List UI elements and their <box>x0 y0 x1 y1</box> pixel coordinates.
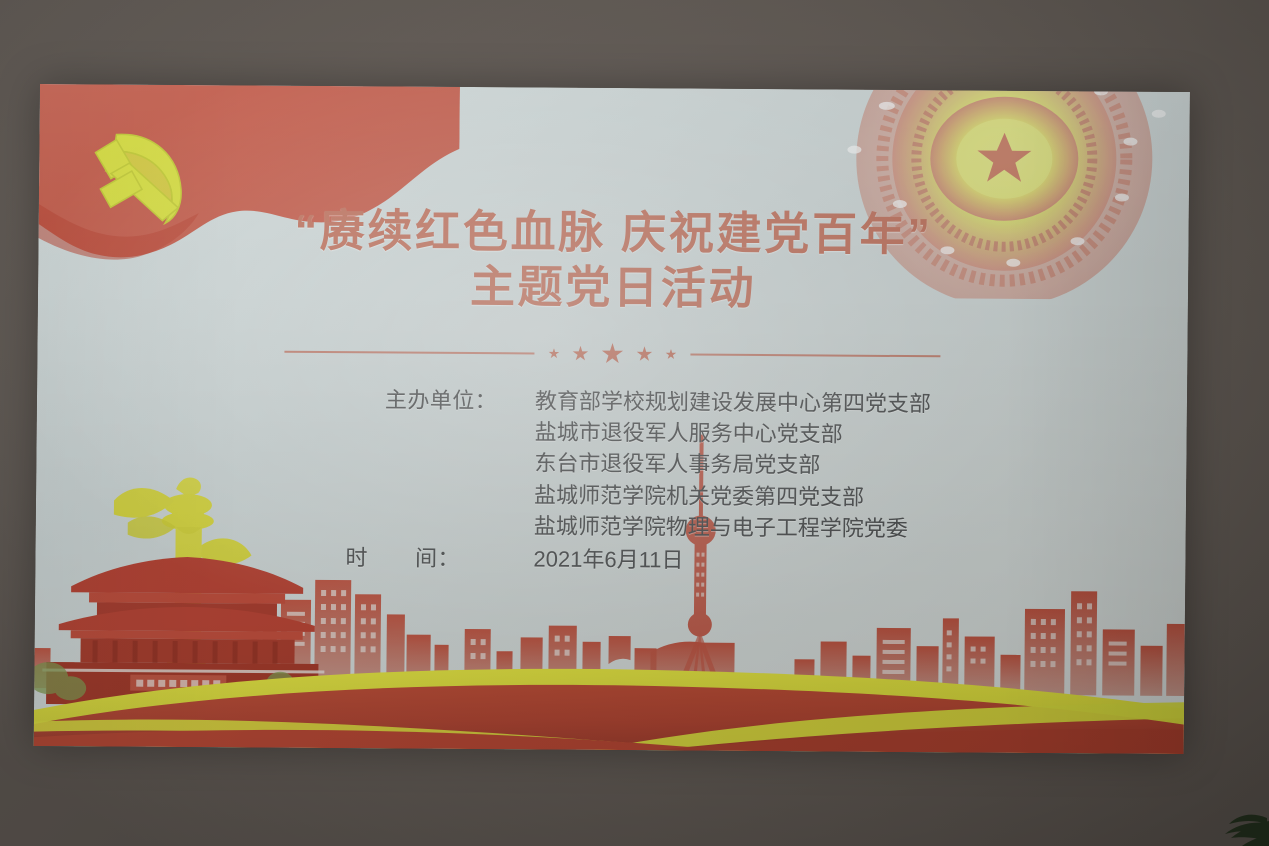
slide-title: “赓续红色血脉 庆祝建党百年” 主题党日活动 <box>38 202 1189 320</box>
organizer-row: 主办单位： 教育部学校规划建设发展中心第四党支部 盐城市退役军人服务中心党支部 … <box>384 384 932 544</box>
organizer-item: 盐城师范学院物理与电子工程学院党委 <box>534 510 930 544</box>
organizer-label: 主办单位： <box>385 384 535 416</box>
divider-star-1 <box>548 348 559 359</box>
time-label: 时 间： <box>345 542 533 575</box>
divider-star-5 <box>665 349 676 360</box>
divider-star-3 <box>601 343 623 365</box>
time-label-char-1: 时 <box>345 545 368 570</box>
slide-info-block: 主办单位： 教育部学校规划建设发展中心第四党支部 盐城市退役军人服务中心党支部 … <box>383 384 931 577</box>
potted-plant-silhouette <box>1155 776 1269 846</box>
time-value-wrap: 2021年6月11日 <box>533 544 683 576</box>
organizer-item: 东台市退役军人事务局党支部 <box>534 448 930 482</box>
divider-star-4 <box>636 346 652 362</box>
title-line-1: “赓续红色血脉 庆祝建党百年” <box>38 202 1189 265</box>
organizer-item: 教育部学校规划建设发展中心第四党支部 <box>535 385 931 419</box>
divider-rule-left <box>284 351 534 355</box>
presentation-slide: “赓续红色血脉 庆祝建党百年” 主题党日活动 主办单位： <box>34 84 1190 754</box>
organizer-list: 教育部学校规划建设发展中心第四党支部 盐城市退役军人服务中心党支部 东台市退役军… <box>534 385 932 544</box>
time-label-char-2: 间： <box>415 546 460 571</box>
meeting-room-wall: “赓续红色血脉 庆祝建党百年” 主题党日活动 主办单位： <box>0 0 1269 846</box>
title-line-2: 主题党日活动 <box>38 257 1189 320</box>
organizer-item: 盐城市退役军人服务中心党支部 <box>535 417 931 451</box>
divider-star-2 <box>572 346 588 362</box>
time-row: 时 间： 2021年6月11日 <box>383 543 929 578</box>
time-value: 2021年6月11日 <box>533 544 683 576</box>
divider-stars <box>534 342 690 365</box>
star-divider <box>37 337 1187 371</box>
tiananmen-gate <box>34 476 327 706</box>
divider-rule-right <box>690 354 940 358</box>
projection-screen: “赓续红色血脉 庆祝建党百年” 主题党日活动 主办单位： <box>34 84 1190 754</box>
organizer-item: 盐城师范学院机关党委第四党支部 <box>534 479 930 513</box>
